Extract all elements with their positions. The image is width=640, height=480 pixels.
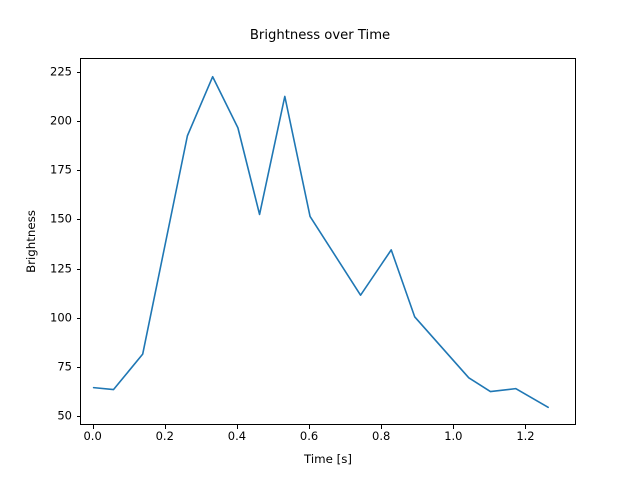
y-axis-label: Brightness [24, 58, 38, 425]
y-tick-label: 125 [12, 263, 72, 275]
y-tick-label: 75 [12, 361, 72, 373]
y-tick-label: 225 [12, 66, 72, 78]
x-tick-label: 1.2 [495, 431, 555, 443]
chart-figure: Brightness over Time 5075100125150175200… [0, 0, 640, 480]
y-tick-label: 50 [12, 410, 72, 422]
y-tick-label: 200 [12, 115, 72, 127]
y-tick-label: 175 [12, 164, 72, 176]
x-tick-label: 1.0 [423, 431, 483, 443]
x-tick-label: 0.6 [279, 431, 339, 443]
x-tick-label: 0.8 [351, 431, 411, 443]
x-axis-label: Time [s] [80, 452, 576, 466]
x-tick-label: 0.4 [207, 431, 267, 443]
x-tick-label: 0.2 [135, 431, 195, 443]
y-tick-label: 150 [12, 214, 72, 226]
y-tick-label: 100 [12, 312, 72, 324]
x-tick-label: 0.0 [63, 431, 123, 443]
plot-area [80, 58, 576, 425]
brightness-line [94, 77, 549, 408]
chart-title: Brightness over Time [0, 28, 640, 43]
data-plot [81, 59, 577, 426]
